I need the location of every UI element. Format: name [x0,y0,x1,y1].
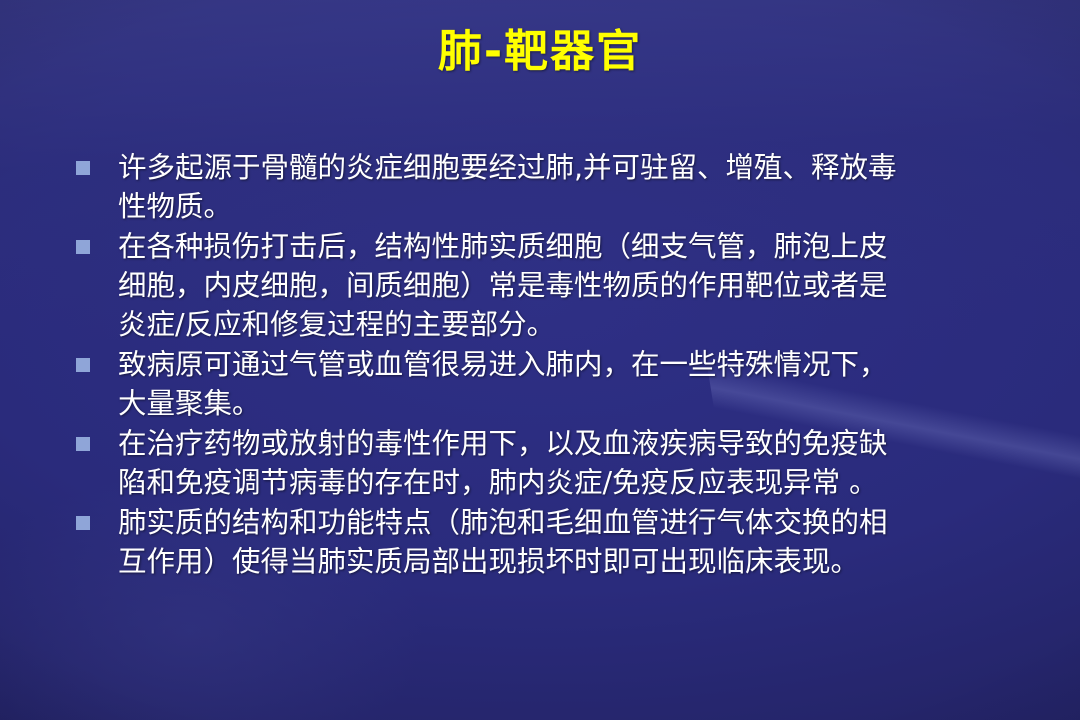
list-item: 致病原可通过气管或血管很易进入肺内，在一些特殊情况下， 大量聚集。 [62,345,1032,423]
slide-bullet-list: 许多起源于骨髓的炎症细胞要经过肺,并可驻留、增殖、释放毒 性物质。 在各种损伤打… [62,148,1032,582]
list-item: 肺实质的结构和功能特点（肺泡和毛细血管进行气体交换的相 互作用）使得当肺实质局部… [62,503,1032,581]
square-bullet-icon [76,358,90,372]
square-bullet-icon [76,240,90,254]
list-item: 在治疗药物或放射的毒性作用下，以及血液疾病导致的免疫缺 陷和免疫调节病毒的存在时… [62,424,1032,502]
square-bullet-icon [76,161,90,175]
list-item: 在各种损伤打击后，结构性肺实质细胞（细支气管，肺泡上皮 细胞，内皮细胞，间质细胞… [62,227,1032,344]
list-item: 许多起源于骨髓的炎症细胞要经过肺,并可驻留、增殖、释放毒 性物质。 [62,148,1032,226]
square-bullet-icon [76,516,90,530]
list-item-text: 许多起源于骨髓的炎症细胞要经过肺,并可驻留、增殖、释放毒 性物质。 [118,148,1032,226]
list-item-text: 在治疗药物或放射的毒性作用下，以及血液疾病导致的免疫缺 陷和免疫调节病毒的存在时… [118,424,1032,502]
slide-title: 肺-靶器官 [0,28,1080,76]
list-item-text: 致病原可通过气管或血管很易进入肺内，在一些特殊情况下， 大量聚集。 [118,345,1032,423]
square-bullet-icon [76,437,90,451]
list-item-text: 在各种损伤打击后，结构性肺实质细胞（细支气管，肺泡上皮 细胞，内皮细胞，间质细胞… [118,227,1032,344]
presentation-slide: 肺-靶器官 许多起源于骨髓的炎症细胞要经过肺,并可驻留、增殖、释放毒 性物质。 … [0,0,1080,720]
list-item-text: 肺实质的结构和功能特点（肺泡和毛细血管进行气体交换的相 互作用）使得当肺实质局部… [118,503,1032,581]
